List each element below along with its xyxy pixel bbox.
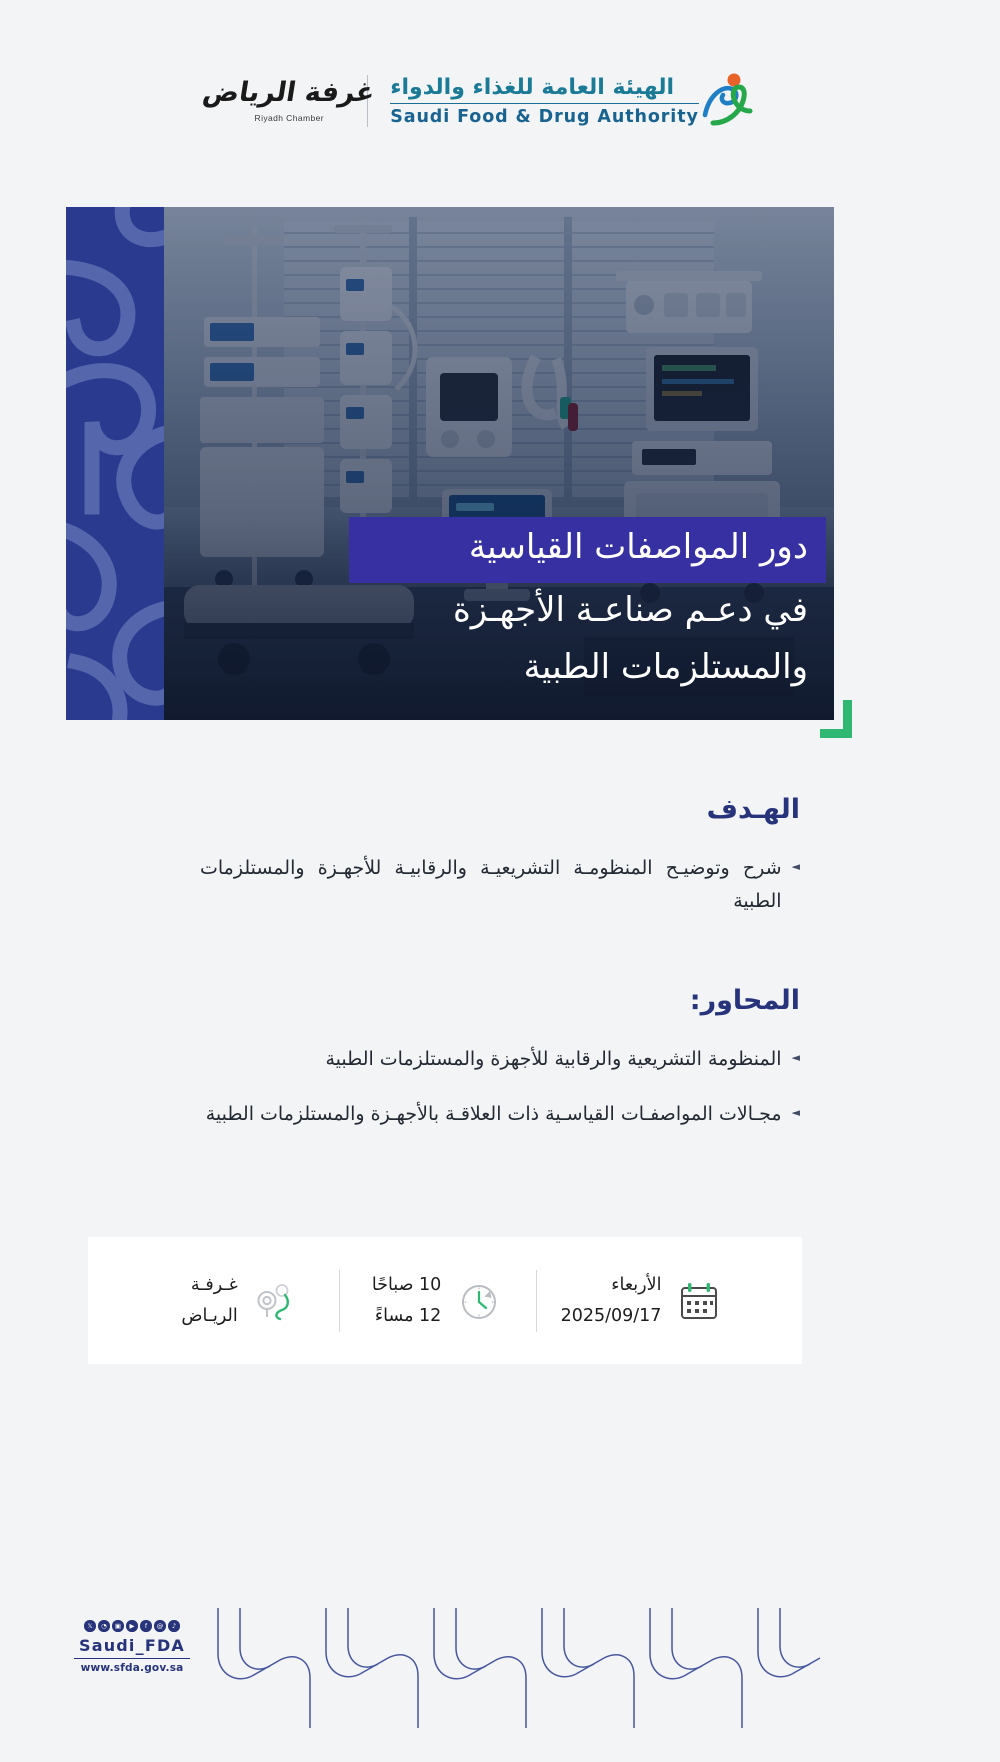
info-divider [339, 1270, 340, 1332]
bullet-arrow-icon: ◄ [792, 1044, 800, 1073]
hero-title-line-1: دور المواصفات القياسية [349, 517, 826, 583]
green-corner-accent [820, 700, 852, 738]
calendar-icon [675, 1277, 723, 1325]
social-icons-row: 𝕏 ◔ ▣ ▶ f @ ♪ [72, 1620, 192, 1632]
pattern-swirls-icon [66, 207, 164, 720]
objective-bullet-text: شرح وتوضيـح المنظومـة التشريعيـة والرقاب… [200, 852, 782, 917]
axes-bullet-text-2: مجـالات المواصفـات القياسـية ذات العلاقـ… [200, 1098, 782, 1131]
sfda-arabic-name: الهيئة العامة للغذاء والدواء [390, 75, 674, 100]
threads-icon[interactable]: @ [154, 1620, 166, 1632]
sfda-wordmark: الهيئة العامة للغذاء والدواء Saudi Food … [390, 75, 699, 127]
riyadh-chamber-subtitle: Riyadh Chamber [255, 113, 324, 123]
info-cell-venue: غـرفـة الريـاض [143, 1270, 339, 1331]
event-venue-line2: الريـاض [181, 1301, 237, 1332]
poster-root: غرفة الرياض Riyadh Chamber الهيئة العامة… [0, 0, 1000, 1762]
sfda-website-url[interactable]: www.sfda.gov.sa [72, 1662, 192, 1674]
event-venue-text: غـرفـة الريـاض [181, 1270, 237, 1331]
header-logos: غرفة الرياض Riyadh Chamber الهيئة العامة… [0, 58, 1000, 144]
event-time-start: 10 صباحًا [372, 1275, 441, 1295]
event-day-label: الأربعاء [611, 1275, 661, 1295]
axes-section: المحاور: ◄ المنظومة التشريعية والرقابية … [200, 985, 800, 1153]
list-item: ◄ شرح وتوضيـح المنظومـة التشريعيـة والرق… [200, 852, 800, 917]
clock-icon [455, 1277, 503, 1325]
hero-banner: دور المواصفات القياسية في دعـم صناعـة ال… [66, 207, 834, 720]
axes-heading: المحاور: [200, 985, 800, 1017]
objective-section: الهـدف ◄ شرح وتوضيـح المنظومـة التشريعيـ… [200, 794, 800, 940]
bullet-arrow-icon: ◄ [792, 1099, 800, 1128]
riyadh-chamber-logo: غرفة الرياض Riyadh Chamber [233, 79, 345, 123]
event-venue-line1: غـرفـة [191, 1275, 238, 1295]
decorative-pattern-panel [66, 207, 164, 720]
footer-decorative-pattern [210, 1608, 830, 1728]
info-cell-time: 10 صباحًا 12 مساءً [340, 1270, 536, 1331]
riyadh-chamber-mark: غرفة الرياض [201, 79, 377, 106]
handle-rule [74, 1658, 190, 1659]
location-pin-icon [252, 1277, 300, 1325]
hero-title-line-3: والمستلزمات الطبية [524, 640, 808, 698]
sfda-handle-name: Saudi_FDA [72, 1636, 192, 1656]
event-date-value: 2025/09/17 [561, 1301, 662, 1332]
facebook-icon[interactable]: f [140, 1620, 152, 1632]
snapchat-icon[interactable]: ◔ [98, 1620, 110, 1632]
hero-title-line-2: في دعـم صناعـة الأجهـزة [453, 583, 808, 641]
event-time-end: 12 مساءً [372, 1301, 441, 1332]
bullet-arrow-icon: ◄ [792, 853, 800, 882]
objective-heading: الهـدف [200, 794, 800, 826]
sfda-english-name: Saudi Food & Drug Authority [390, 107, 699, 127]
event-time-text: 10 صباحًا 12 مساءً [372, 1270, 441, 1331]
youtube-icon[interactable]: ▶ [126, 1620, 138, 1632]
x-icon[interactable]: 𝕏 [84, 1620, 96, 1632]
info-cell-date: الأربعاء 2025/09/17 [537, 1270, 748, 1331]
sfda-rule [390, 103, 699, 104]
info-divider [536, 1270, 537, 1332]
sfda-logo-icon [699, 71, 753, 131]
axes-bullet-text-1: المنظومة التشريعية والرقابية للأجهزة وال… [200, 1043, 782, 1076]
list-item: ◄ مجـالات المواصفـات القياسـية ذات العلا… [200, 1098, 800, 1131]
tiktok-icon[interactable]: ♪ [168, 1620, 180, 1632]
event-date-text: الأربعاء 2025/09/17 [561, 1270, 662, 1331]
event-info-bar: الأربعاء 2025/09/17 10 صباحًا [88, 1237, 802, 1364]
instagram-icon[interactable]: ▣ [112, 1620, 124, 1632]
list-item: ◄ المنظومة التشريعية والرقابية للأجهزة و… [200, 1043, 800, 1076]
sfda-social-block: 𝕏 ◔ ▣ ▶ f @ ♪ Saudi_FDA www.sfda.gov.sa [72, 1620, 192, 1674]
hero-title-block: دور المواصفات القياسية في دعـم صناعـة ال… [168, 517, 808, 698]
footer: 𝕏 ◔ ▣ ▶ f @ ♪ Saudi_FDA www.sfda.gov.sa [0, 1582, 1000, 1762]
